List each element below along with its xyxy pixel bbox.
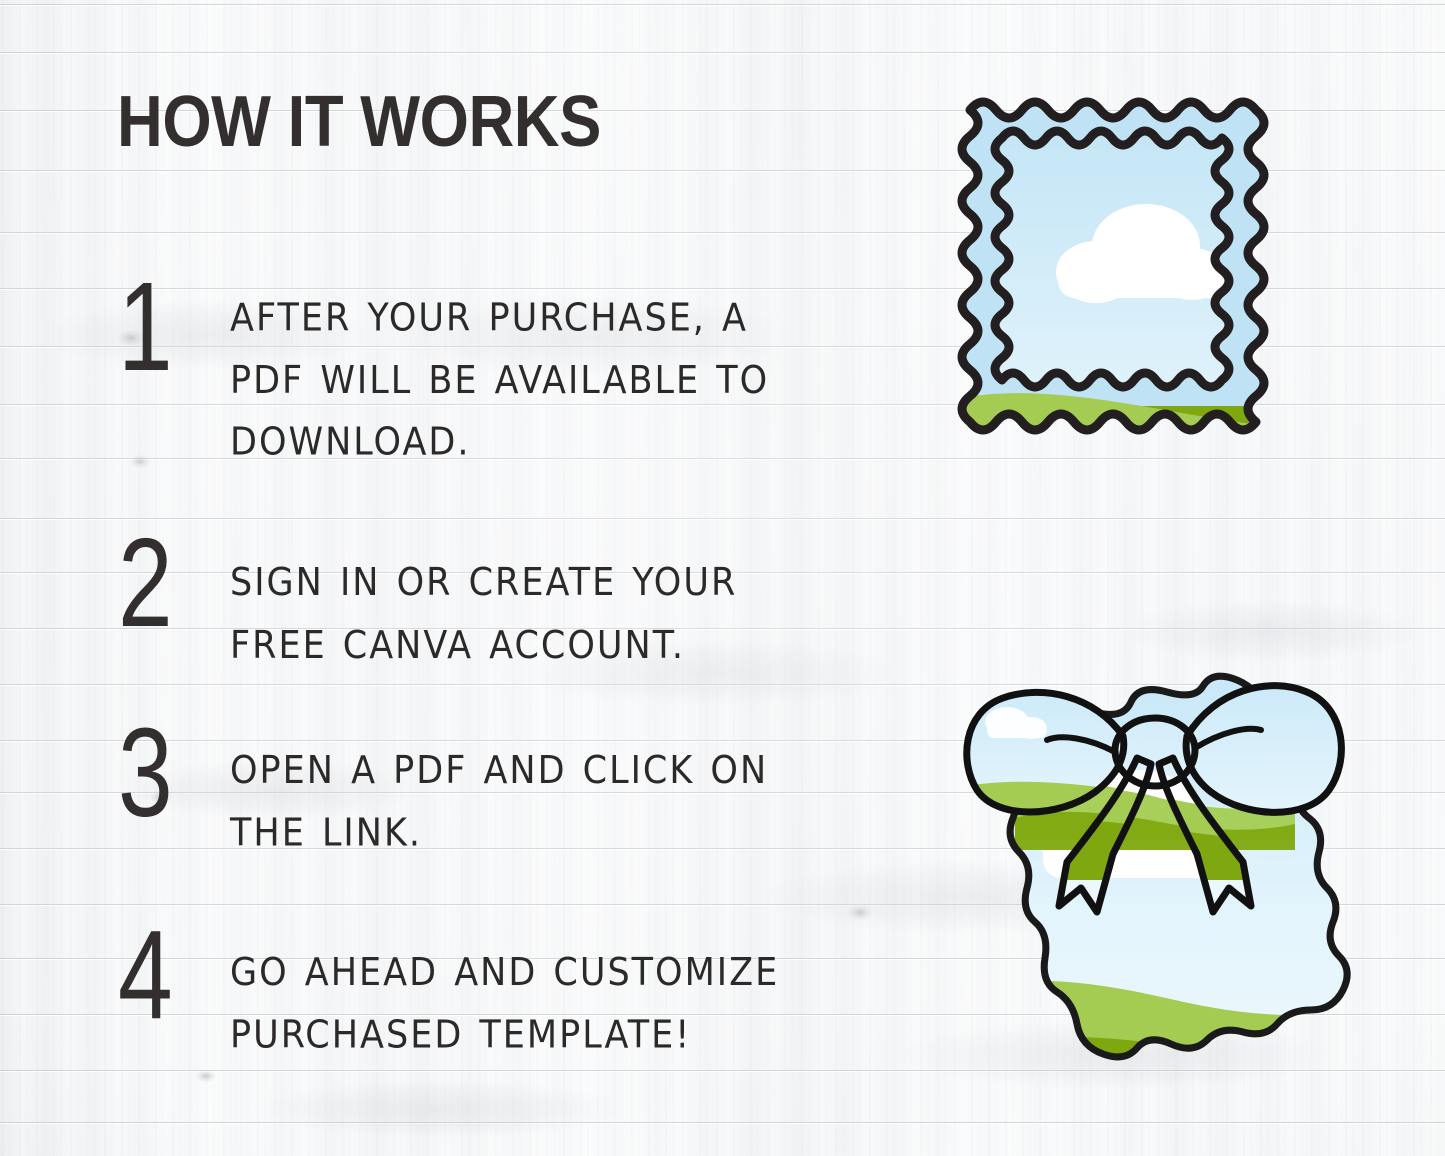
- step-number: 2: [118, 528, 205, 639]
- list-item: 2 SIGN IN OR CREATE YOUR FREE CANVA ACCO…: [118, 528, 810, 663]
- wood-plank-seam: [0, 52, 1445, 53]
- step-text: GO AHEAD AND CUSTOMIZE PURCHASED TEMPLAT…: [230, 920, 810, 1067]
- step-number: 4: [118, 920, 205, 1031]
- list-item: 3 OPEN A PDF AND CLICK ON THE LINK.: [118, 718, 810, 851]
- step-text: AFTER YOUR PURCHASE, A PDF WILL BE AVAIL…: [230, 272, 810, 474]
- canvas: HOW IT WORKS 1 AFTER YOUR PURCHASE, A PD…: [0, 0, 1445, 1156]
- step-text: SIGN IN OR CREATE YOUR FREE CANVA ACCOUN…: [230, 528, 810, 677]
- wavy-frame-landscape-mockup: [930, 76, 1360, 576]
- page-title: HOW IT WORKS: [117, 86, 601, 158]
- wood-knot: [130, 455, 150, 468]
- wood-grain-blob: [260, 1080, 620, 1138]
- wood-plank-seam: [0, 4, 1445, 5]
- wood-knot: [196, 1070, 216, 1082]
- wood-knot: [848, 905, 872, 920]
- scalloped-frame-with-bow-mockup: [955, 640, 1355, 1130]
- step-number: 1: [118, 272, 205, 383]
- step-text: OPEN A PDF AND CLICK ON THE LINK.: [230, 718, 810, 865]
- list-item: 4 GO AHEAD AND CUSTOMIZE PURCHASED TEMPL…: [118, 920, 810, 1053]
- step-number: 3: [118, 718, 205, 829]
- list-item: 1 AFTER YOUR PURCHASE, A PDF WILL BE AVA…: [118, 272, 810, 456]
